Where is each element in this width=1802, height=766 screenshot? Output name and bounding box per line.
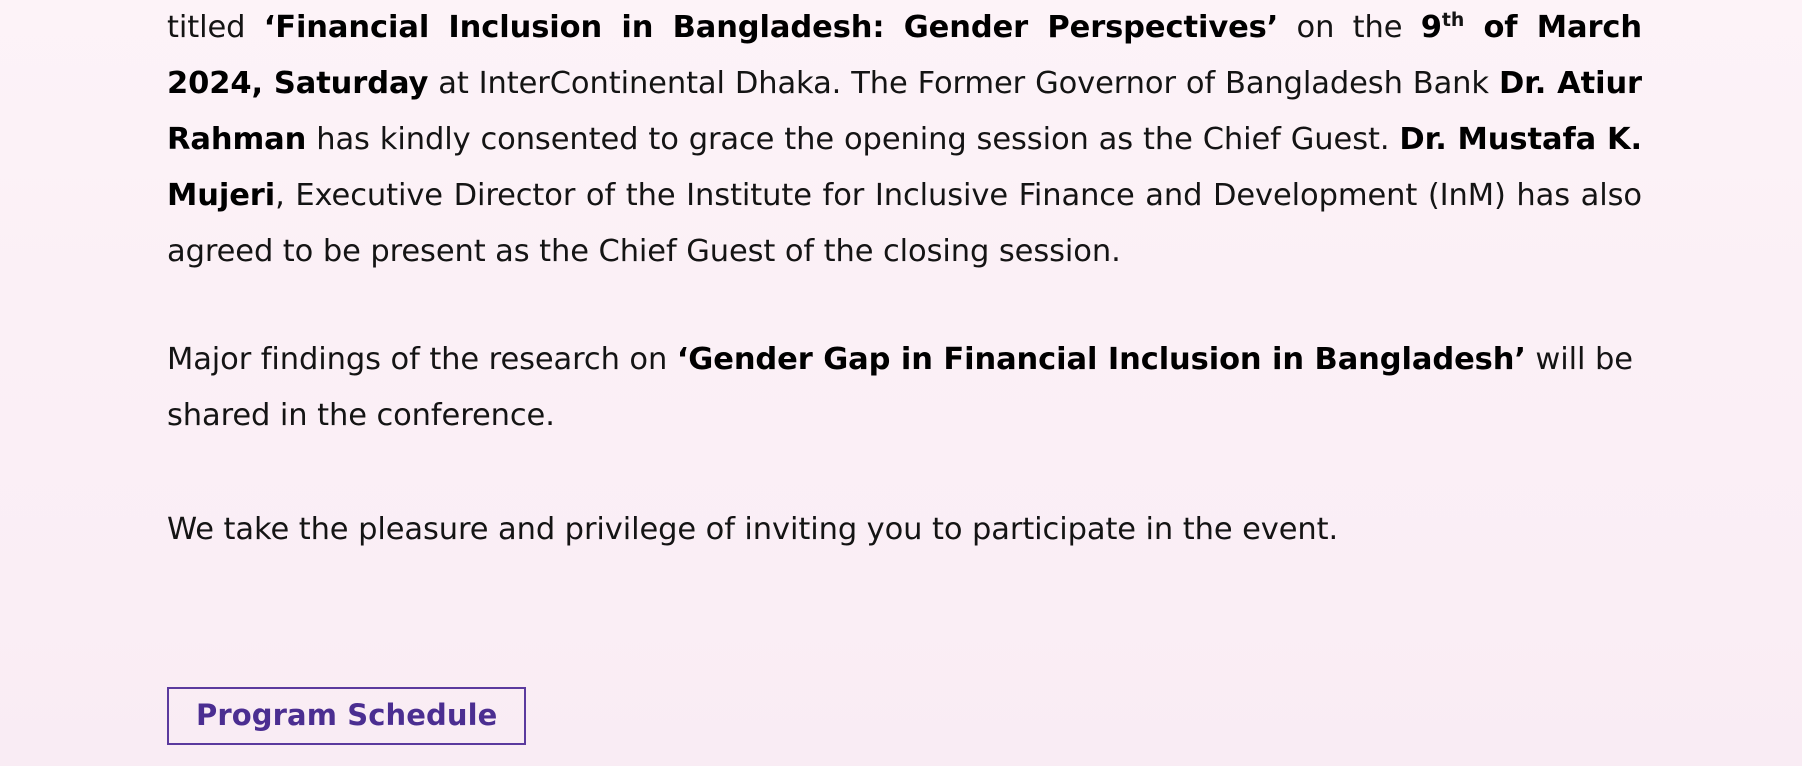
invite-paragraph: We take the pleasure and privilege of in… — [167, 502, 1642, 558]
invitation-paragraph: titled ‘Financial Inclusion in Banglades… — [167, 0, 1642, 280]
program-schedule-button-wrapper: Program Schedule — [167, 687, 526, 745]
body-text: has kindly consented to grace the openin… — [306, 122, 1399, 157]
emphasis-text: ‘Financial Inclusion in Bangladesh: Gend… — [264, 10, 1279, 45]
body-text: at InterContinental Dhaka. The Former Go… — [428, 66, 1499, 101]
findings-paragraph: Major findings of the research on ‘Gende… — [167, 332, 1642, 444]
paragraph-spacer-2 — [167, 444, 1642, 502]
body-text: Major findings of the research on — [167, 342, 677, 377]
program-schedule-button[interactable]: Program Schedule — [167, 687, 526, 745]
body-text: We take the pleasure and privilege of in… — [167, 512, 1338, 547]
document-page: titled ‘Financial Inclusion in Banglades… — [0, 0, 1802, 766]
body-text: , Executive Director of the Institute fo… — [167, 178, 1642, 269]
ordinal-suffix: th — [1442, 9, 1464, 31]
emphasis-text: ‘Gender Gap in Financial Inclusion in Ba… — [677, 342, 1526, 377]
body-text: titled — [167, 10, 264, 45]
document-body: titled ‘Financial Inclusion in Banglades… — [167, 0, 1642, 558]
paragraph-spacer — [167, 280, 1642, 332]
body-text: on the — [1278, 10, 1421, 45]
emphasis-text: 9 — [1421, 10, 1442, 45]
